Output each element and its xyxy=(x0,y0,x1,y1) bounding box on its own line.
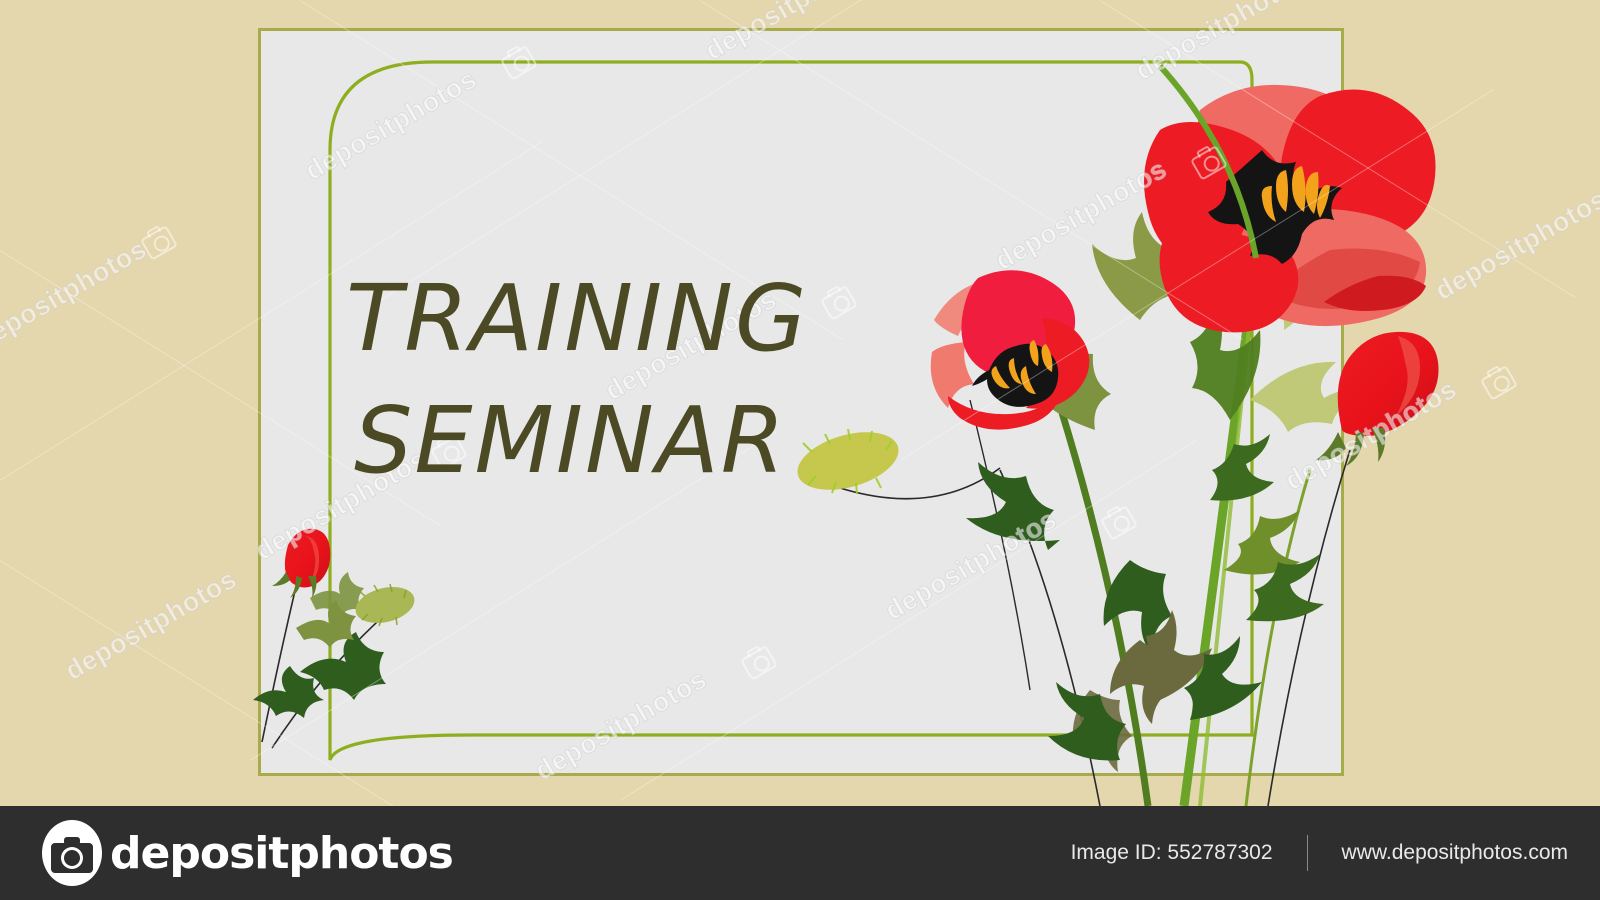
large-poppy xyxy=(1144,85,1436,333)
camera-icon xyxy=(38,819,106,887)
website-url[interactable]: www.depositphotos.com xyxy=(1342,841,1568,865)
stock-photo-artwork: depositphotos depositphotos depositphoto… xyxy=(0,0,1600,806)
left-bud-flower xyxy=(272,529,330,598)
title-line-2: SEMINAR xyxy=(354,380,946,502)
brand-logo[interactable]: depositphotos xyxy=(38,819,453,887)
page-title: TRAINING SEMINAR xyxy=(346,258,946,503)
left-bud-group xyxy=(253,529,418,748)
footer-divider xyxy=(1307,835,1308,871)
depositphotos-footer-bar: depositphotos Image ID: 552787302 www.de… xyxy=(0,806,1600,900)
image-id-label: Image ID: 552787302 xyxy=(1071,841,1273,865)
title-line-1: TRAINING xyxy=(346,265,808,372)
footer-meta: Image ID: 552787302 www.depositphotos.co… xyxy=(1071,835,1568,871)
screenshot-root: depositphotos depositphotos depositphoto… xyxy=(0,0,1600,900)
brand-name: depositphotos xyxy=(110,828,453,879)
